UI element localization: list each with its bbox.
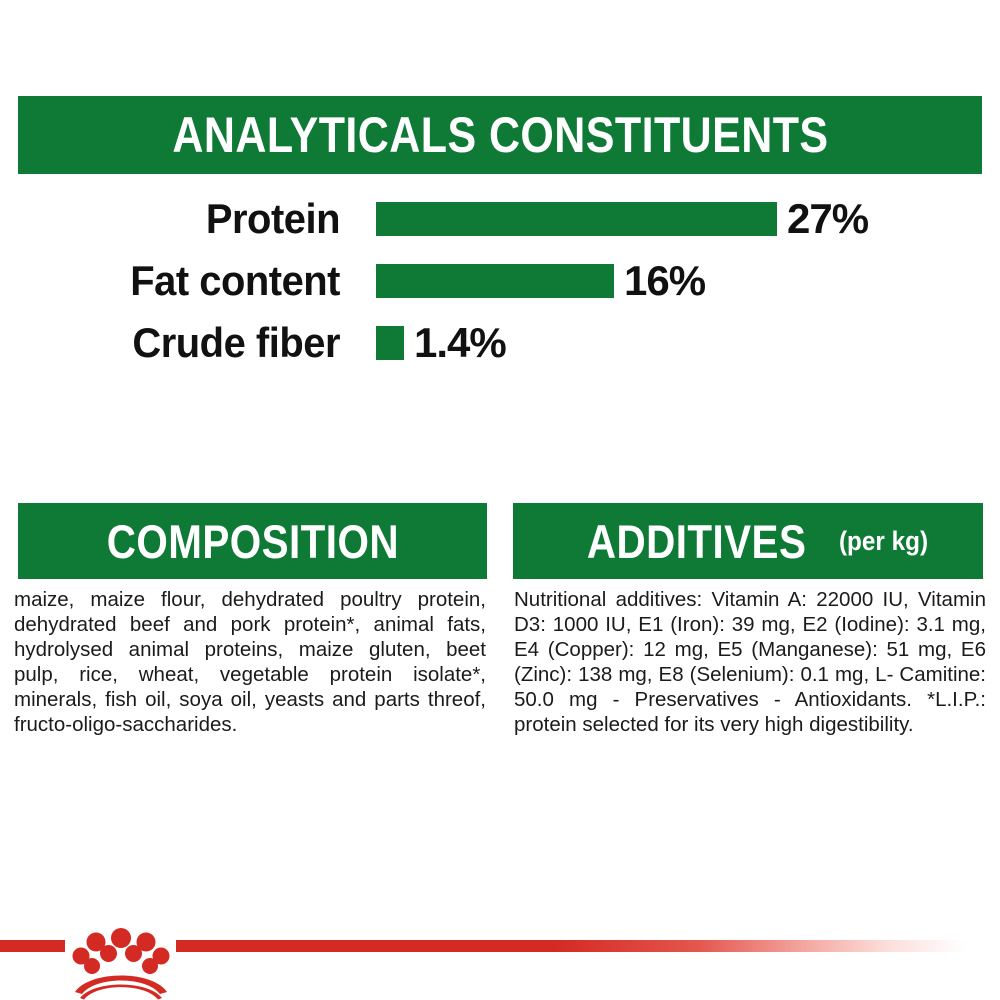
composition-header: COMPOSITION (18, 503, 487, 579)
composition-title: COMPOSITION (106, 518, 398, 565)
analyticals-constituents-title: ANALYTICALS CONSTITUENTS (172, 110, 828, 160)
bar-track-crude-fiber (376, 326, 404, 360)
bar-track-fat-content (376, 264, 614, 298)
footer (0, 930, 1000, 1000)
bar-value-protein: 27% (787, 196, 868, 242)
bar-track-protein (376, 202, 777, 236)
bar-fill-crude-fiber (376, 326, 404, 360)
additives-header: ADDITIVES (per kg) (513, 503, 983, 579)
bar-value-fat-content: 16% (624, 258, 705, 304)
additives-body-text: Nutritional additives: Vitamin A: 22000 … (514, 587, 986, 737)
bar-row-fat-content: Fat content 16% (0, 258, 1000, 304)
bar-fill-fat-content (376, 264, 614, 298)
analyticals-constituents-header: ANALYTICALS CONSTITUENTS (18, 96, 982, 174)
bar-label-crude-fiber: Crude fiber (17, 320, 340, 366)
bar-value-crude-fiber: 1.4% (414, 320, 506, 366)
composition-body-text: maize, maize flour, dehydrated poultry p… (14, 587, 486, 737)
footer-rule-right (176, 940, 966, 952)
bar-fill-protein (376, 202, 777, 236)
additives-subtitle: (per kg) (839, 526, 928, 557)
royal-canin-crown-icon (62, 920, 180, 1000)
bar-label-protein: Protein (17, 196, 340, 242)
bar-label-fat-content: Fat content (17, 258, 340, 304)
additives-title: ADDITIVES (587, 518, 806, 565)
footer-rule-left (0, 940, 65, 952)
bar-row-crude-fiber: Crude fiber 1.4% (0, 320, 1000, 366)
bar-row-protein: Protein 27% (0, 196, 1000, 242)
analyticals-bar-chart: Protein 27% Fat content 16% Crude fiber … (0, 196, 1000, 386)
